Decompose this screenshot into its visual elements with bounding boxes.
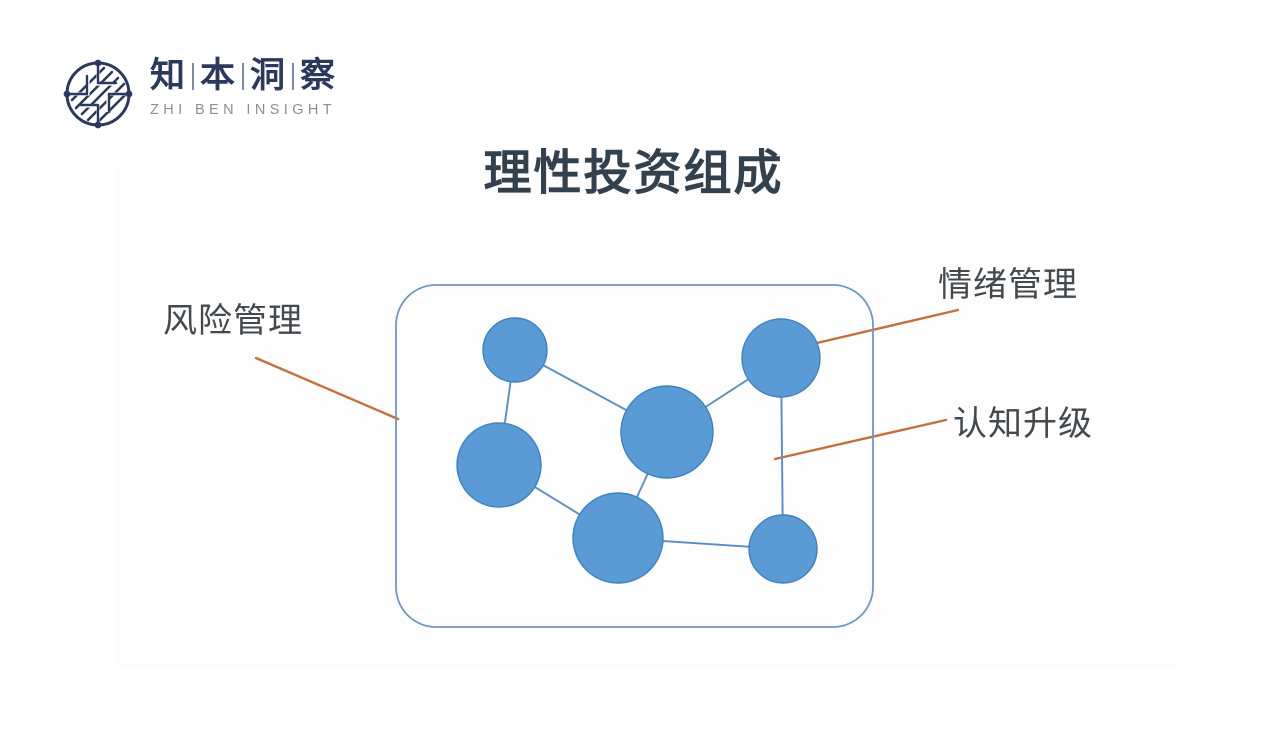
leader-line-layer <box>256 310 958 459</box>
node-top-left-small[interactable] <box>483 318 547 382</box>
node-bottom-center[interactable] <box>573 493 663 583</box>
network-diagram <box>0 0 1267 752</box>
node-top-right[interactable] <box>742 319 820 397</box>
leader-line-risk <box>256 358 398 419</box>
node-left-large[interactable] <box>457 423 541 507</box>
annotation-label-risk: 风险管理 <box>163 293 303 342</box>
node-bottom-right-small[interactable] <box>749 515 817 583</box>
leader-line-cognition <box>775 420 946 459</box>
annotation-label-cognition: 认知升级 <box>953 396 1093 445</box>
node-layer <box>457 318 820 583</box>
node-center-hub[interactable] <box>621 386 713 478</box>
annotation-label-emotion: 情绪管理 <box>938 257 1078 306</box>
slide-canvas: 知 本 洞 察 ZHI BEN INSIGHT 理性投资组成 风险管理 情绪管理… <box>0 0 1267 752</box>
